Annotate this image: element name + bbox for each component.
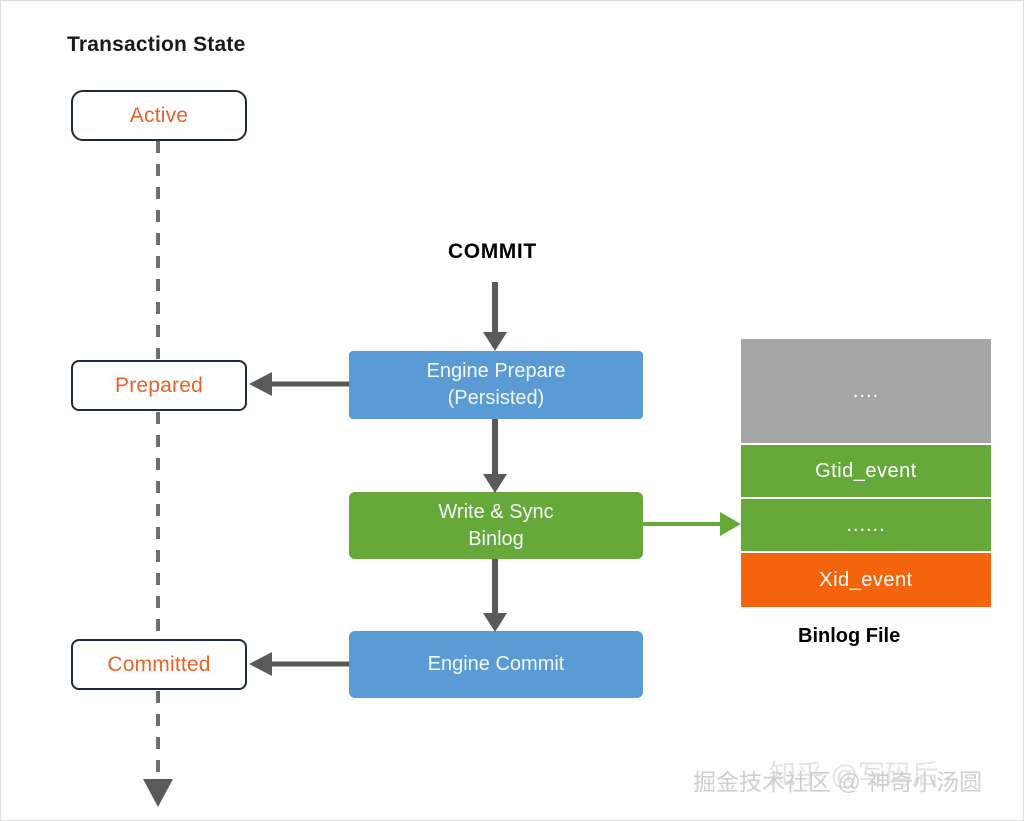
binlog-row-xid-event[interactable]: Xid_event <box>741 553 991 607</box>
binlog-row-other-top[interactable]: .... <box>741 339 991 443</box>
binlog-file-caption: Binlog File <box>798 624 900 649</box>
binlog-row-label: .... <box>853 381 879 401</box>
binlog-row-label: ...... <box>846 515 885 535</box>
binlog-row-label: Gtid_event <box>815 460 917 483</box>
binlog-row-label: Xid_event <box>819 569 912 592</box>
binlog-row-gtid-event[interactable]: Gtid_event <box>741 445 991 497</box>
binlog-file-stack: .... Gtid_event ...... Xid_event <box>741 339 991 607</box>
binlog-row-dots[interactable]: ...... <box>741 499 991 551</box>
diagram-canvas: Transaction State Active Prepared Commit… <box>0 0 1024 821</box>
arrow-head <box>720 512 741 536</box>
